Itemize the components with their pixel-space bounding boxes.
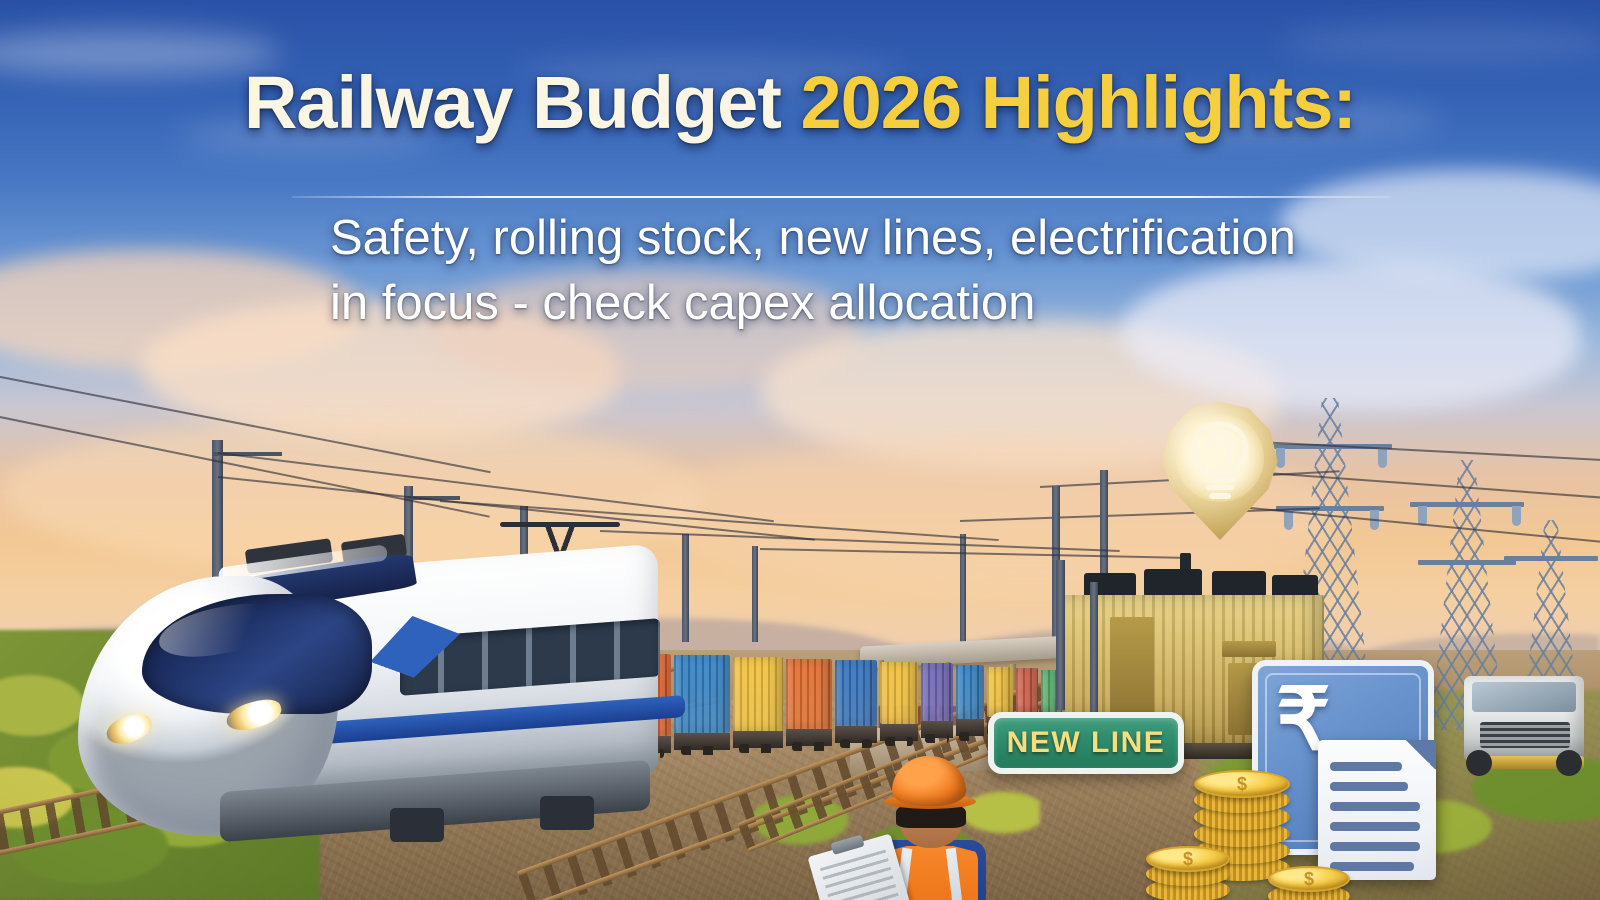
freight-wagon [1016, 668, 1038, 714]
lamp-post [1090, 582, 1098, 712]
freight-wagon [956, 665, 984, 719]
map-pin-icon[interactable] [1160, 400, 1280, 540]
freight-wagon [987, 667, 1013, 717]
hard-hat [892, 756, 966, 806]
title-text-primary: Railway Budget [244, 61, 801, 144]
banner-image: NEW LINE ₹ [0, 0, 1600, 900]
lamp-post [1056, 560, 1065, 710]
title-divider [292, 196, 1390, 198]
lightbulb-icon [1187, 420, 1253, 506]
maintenance-truck [1440, 650, 1600, 795]
new-line-sign-label: NEW LINE [1007, 726, 1166, 760]
banner-subtitle: Safety, rolling stock, new lines, electr… [0, 206, 1600, 335]
freight-wagon [674, 655, 730, 733]
freight-wagon [921, 663, 953, 721]
high-speed-train [70, 520, 630, 880]
railway-worker [848, 752, 998, 900]
freight-wagon [733, 657, 783, 731]
title-text-highlight: 2026 Highlights: [801, 61, 1357, 144]
freight-wagon [786, 659, 832, 729]
freight-wagon [835, 660, 877, 726]
page-title: Railway Budget 2026 Highlights: [0, 66, 1600, 140]
cloud-wisp [1280, 24, 1600, 62]
document-icon[interactable] [1318, 740, 1436, 880]
subtitle-line-2: in focus - check capex allocation [330, 271, 1600, 336]
new-line-sign[interactable]: NEW LINE [988, 712, 1184, 774]
coin-symbol: $ [1196, 772, 1288, 796]
coin-symbol: $ [1270, 868, 1348, 890]
coin-symbol: $ [1148, 848, 1228, 870]
freight-wagon [880, 662, 918, 724]
subtitle-line-1: Safety, rolling stock, new lines, electr… [330, 206, 1600, 271]
